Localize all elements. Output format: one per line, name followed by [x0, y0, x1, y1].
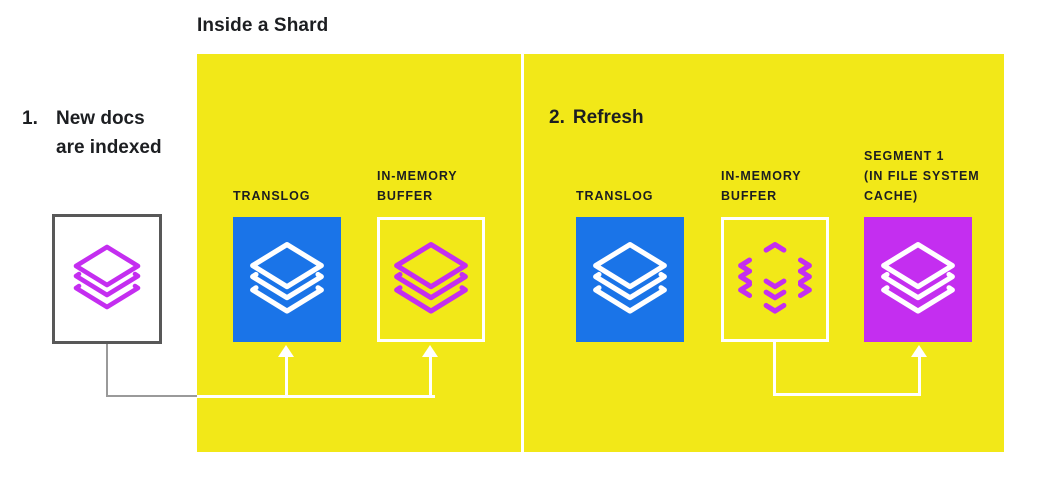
buffer-label-1: IN-MEMORY BUFFER — [377, 166, 458, 206]
translog-box-2 — [576, 217, 684, 342]
step-2-label: Refresh — [573, 107, 644, 128]
buffer-label-2: IN-MEMORY BUFFER — [721, 166, 802, 206]
step-1-label: New docs are indexed — [56, 104, 162, 162]
step-2-number: 2. — [549, 107, 565, 128]
connector-doc-vertical — [106, 344, 108, 396]
segment-box — [864, 217, 972, 342]
arrowhead-buffer-1 — [422, 345, 438, 357]
connector-branch-horizontal-1 — [197, 395, 435, 398]
translog-label-2: TRANSLOG — [576, 186, 653, 206]
arrowhead-translog-1 — [278, 345, 294, 357]
layers-icon — [391, 239, 471, 321]
step-1-number: 1. — [22, 104, 48, 133]
connector-buffer-2-down — [773, 342, 776, 396]
translog-label-1: TRANSLOG — [233, 186, 310, 206]
step-2-heading: 2.Refresh — [549, 107, 644, 129]
page-title: Inside a Shard — [197, 15, 328, 37]
source-doc-box — [52, 214, 162, 344]
layers-icon — [878, 239, 958, 321]
layers-icon — [590, 239, 670, 321]
layers-icon — [247, 239, 327, 321]
connector-buffer-1-vertical — [429, 355, 432, 396]
connector-segment-vertical — [918, 355, 921, 396]
step-1-heading: 1. New docs are indexed — [22, 104, 162, 162]
connector-buffer-to-segment-horizontal — [773, 393, 921, 396]
translog-box-1 — [233, 217, 341, 342]
buffer-box-1 — [377, 217, 485, 342]
connector-doc-horizontal — [106, 395, 198, 397]
connector-translog-1-vertical — [285, 355, 288, 396]
arrowhead-segment — [911, 345, 927, 357]
buffer-box-2 — [721, 217, 829, 342]
layers-icon — [71, 242, 143, 316]
layers-icon-dashed — [735, 239, 815, 321]
segment-label: SEGMENT 1 (IN FILE SYSTEM CACHE) — [864, 146, 980, 206]
panel-divider — [521, 54, 524, 452]
